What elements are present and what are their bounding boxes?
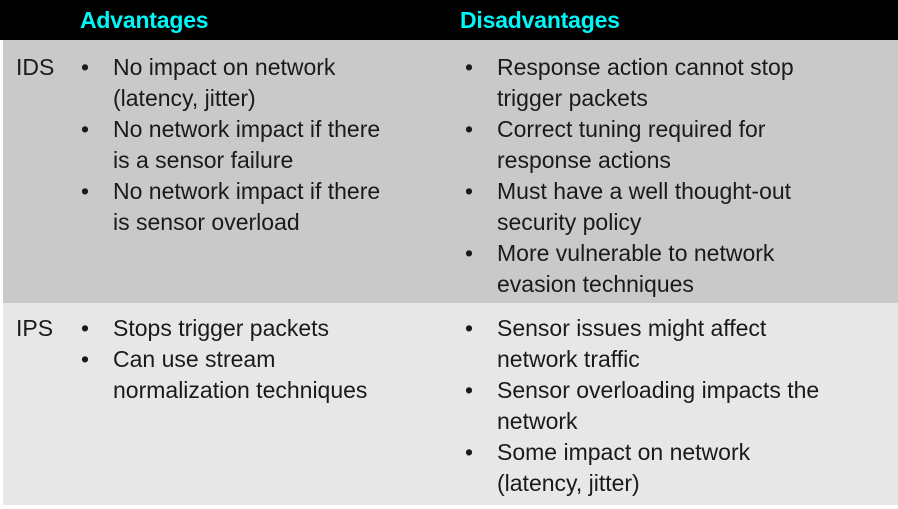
list-item: •Can use stream normalization techniques xyxy=(79,344,429,406)
list-item: •Stops trigger packets xyxy=(79,313,429,344)
bullet-icon: • xyxy=(465,176,485,207)
list-item-label: Sensor issues might affect network traff… xyxy=(497,313,883,375)
bullet-icon: • xyxy=(81,344,101,375)
ids-disadvantages-list: •Response action cannot stop trigger pac… xyxy=(463,52,883,300)
list-item-label: Some impact on network (latency, jitter) xyxy=(497,437,883,499)
list-item: •Sensor issues might affect network traf… xyxy=(463,313,883,375)
list-item: •Some impact on network (latency, jitter… xyxy=(463,437,883,499)
list-item: •No network impact if there is a sensor … xyxy=(79,114,429,176)
bullet-icon: • xyxy=(465,437,485,468)
bullet-icon: • xyxy=(81,114,101,145)
bullet-icon: • xyxy=(465,375,485,406)
column-header-advantages: Advantages xyxy=(80,6,208,34)
bullet-icon: • xyxy=(81,176,101,207)
list-item-label: Correct tuning required for response act… xyxy=(497,114,883,176)
list-item-label: Must have a well thought-out security po… xyxy=(497,176,883,238)
list-item: •Response action cannot stop trigger pac… xyxy=(463,52,883,114)
list-item: •Sensor overloading impacts the network xyxy=(463,375,883,437)
list-item-label: More vulnerable to network evasion techn… xyxy=(497,238,883,300)
row-label-ids: IDS xyxy=(16,52,54,83)
list-item: •No network impact if there is sensor ov… xyxy=(79,176,429,238)
table-row-ids: IDS •No impact on network (latency, jitt… xyxy=(0,40,898,303)
ids-advantages-list: •No impact on network (latency, jitter)•… xyxy=(79,52,429,238)
list-item: •Correct tuning required for response ac… xyxy=(463,114,883,176)
list-item-label: No network impact if there is a sensor f… xyxy=(113,114,429,176)
bullet-icon: • xyxy=(465,52,485,83)
table-header-row: Advantages Disadvantages xyxy=(0,0,898,40)
bullet-icon: • xyxy=(465,238,485,269)
list-item-label: No impact on network (latency, jitter) xyxy=(113,52,429,114)
ips-advantages-list: •Stops trigger packets•Can use stream no… xyxy=(79,313,429,406)
ips-disadvantages-list: •Sensor issues might affect network traf… xyxy=(463,313,883,499)
ids-ips-comparison-table: Advantages Disadvantages IDS •No impact … xyxy=(0,0,898,509)
bullet-icon: • xyxy=(465,313,485,344)
bullet-icon: • xyxy=(81,313,101,344)
row-label-ips: IPS xyxy=(16,313,53,344)
list-item: •No impact on network (latency, jitter) xyxy=(79,52,429,114)
list-item-label: Response action cannot stop trigger pack… xyxy=(497,52,883,114)
list-item-label: Can use stream normalization techniques xyxy=(113,344,429,406)
list-item-label: Stops trigger packets xyxy=(113,313,429,344)
list-item: •More vulnerable to network evasion tech… xyxy=(463,238,883,300)
table-row-ips: IPS •Stops trigger packets•Can use strea… xyxy=(0,303,898,509)
list-item-label: No network impact if there is sensor ove… xyxy=(113,176,429,238)
list-item-label: Sensor overloading impacts the network xyxy=(497,375,883,437)
bullet-icon: • xyxy=(465,114,485,145)
list-item: •Must have a well thought-out security p… xyxy=(463,176,883,238)
column-header-disadvantages: Disadvantages xyxy=(460,6,620,34)
bullet-icon: • xyxy=(81,52,101,83)
